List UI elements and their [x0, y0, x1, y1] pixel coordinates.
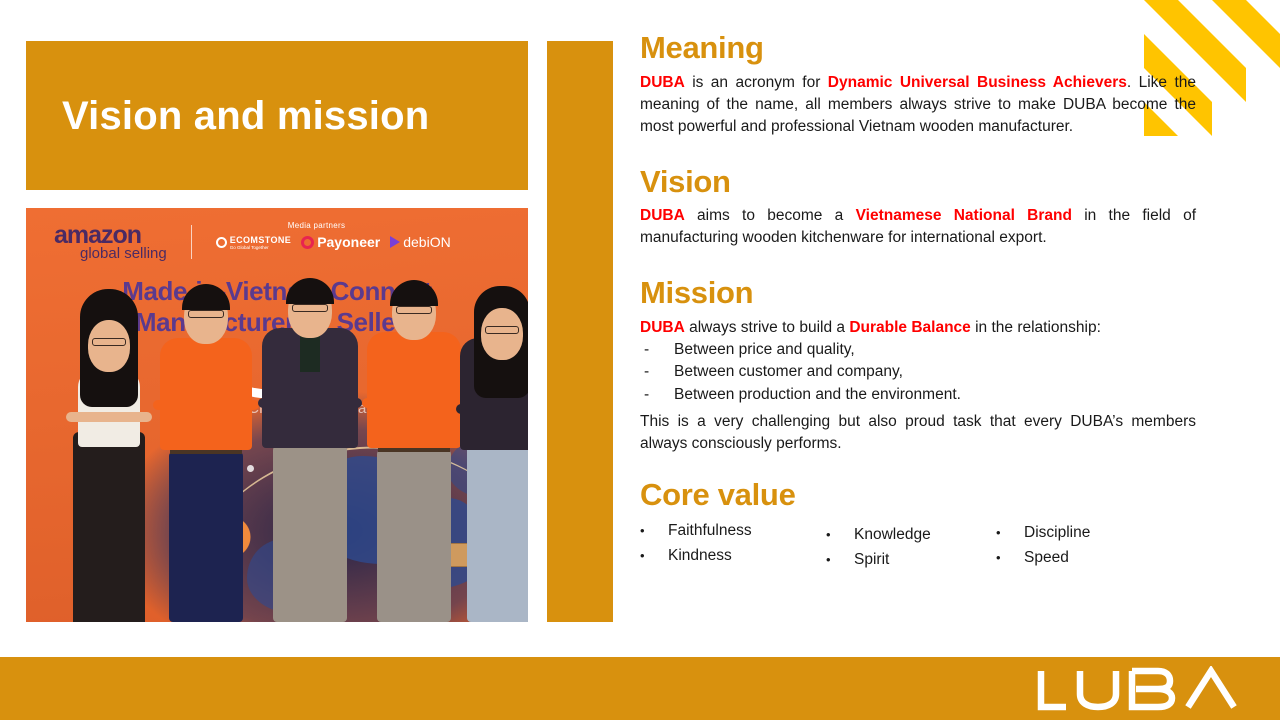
person: [258, 288, 362, 622]
debion-logo: debiON: [390, 234, 450, 250]
list-item: •Spirit: [826, 547, 996, 573]
list-item: -Between price and quality,: [640, 339, 1196, 361]
core-value-column: •Knowledge•Spirit: [826, 518, 996, 573]
slide-title-band: Vision and mission: [26, 41, 528, 190]
list-item-label: Faithfulness: [668, 518, 752, 544]
mission-keyword-balance: Durable Balance: [849, 319, 970, 336]
bullet-marker: •: [826, 525, 854, 546]
vision-paragraph: DUBA aims to become a Vietnamese Nationa…: [640, 205, 1196, 249]
decoration-triangle: [1212, 0, 1246, 34]
list-item: •Speed: [996, 545, 1090, 571]
divider: [191, 225, 192, 259]
list-item: •Kindness: [640, 543, 826, 569]
list-item-label: Discipline: [1024, 520, 1090, 546]
bullet-marker: •: [826, 550, 854, 571]
dash-marker: -: [640, 361, 674, 383]
section-heading-meaning: Meaning: [640, 30, 1196, 67]
decoration-triangle: [1246, 34, 1280, 68]
list-item-label: Spirit: [854, 547, 889, 573]
decoration-triangle: [1178, 0, 1212, 34]
core-value-column: •Faithfulness•Kindness: [640, 518, 826, 573]
mission-text-d: in the relationship:: [971, 319, 1101, 336]
list-item-label: Knowledge: [854, 522, 931, 548]
amazon-global-selling-logo: amazon global selling: [54, 223, 167, 261]
list-item-label: Between customer and company,: [674, 361, 903, 383]
decoration-triangle: [1246, 0, 1280, 34]
media-partners-group: Media partners ECOMSTONE Go Global Toget…: [216, 234, 451, 250]
decoration-triangle: [1144, 0, 1178, 34]
debion-label: debiON: [403, 234, 450, 250]
payoneer-mark-icon: [301, 236, 314, 249]
debion-play-icon: [390, 236, 400, 248]
list-item: •Faithfulness: [640, 518, 826, 544]
duba-logo: DUBA: [1036, 666, 1254, 712]
section-meaning: Meaning DUBA is an acronym for Dynamic U…: [640, 30, 1196, 138]
meaning-keyword-duba: DUBA: [640, 74, 685, 91]
list-item-label: Speed: [1024, 545, 1069, 571]
list-item: -Between production and the environment.: [640, 384, 1196, 406]
section-heading-mission: Mission: [640, 275, 1196, 312]
person: [456, 306, 528, 622]
decoration-triangle: [1212, 68, 1246, 102]
footer-band: DUBA: [0, 657, 1280, 720]
section-core-value: Core value •Faithfulness•Kindness•Knowle…: [640, 477, 1196, 573]
media-partners-label: Media partners: [288, 221, 346, 230]
list-item: •Knowledge: [826, 522, 996, 548]
payoneer-label: Payoneer: [317, 234, 380, 250]
sponsor-logo-strip: amazon global selling Media partners ECO…: [26, 214, 528, 270]
bullet-marker: •: [640, 521, 668, 542]
decoration-triangle: [1212, 34, 1246, 68]
list-item: •Discipline: [996, 520, 1090, 546]
ecomstone-label: ECOMSTONE: [230, 235, 291, 245]
page-title: Vision and mission: [26, 94, 429, 138]
section-mission: Mission DUBA always strive to build a Du…: [640, 275, 1196, 455]
amazon-tagline: global selling: [80, 246, 167, 261]
list-item-label: Between price and quality,: [674, 339, 855, 361]
people-group: [26, 292, 528, 622]
core-value-column: •Discipline•Speed: [996, 518, 1090, 573]
ecomstone-tagline: Go Global Together: [230, 245, 291, 250]
accent-bar: [547, 41, 613, 622]
dash-marker: -: [640, 384, 674, 406]
section-vision: Vision DUBA aims to become a Vietnamese …: [640, 164, 1196, 250]
section-heading-vision: Vision: [640, 164, 1196, 201]
ecomstone-mark-icon: [216, 237, 227, 248]
meaning-keyword-acronym: Dynamic Universal Business Achievers: [828, 74, 1127, 91]
vision-keyword-duba: DUBA: [640, 207, 685, 224]
meaning-paragraph: DUBA is an acronym for Dynamic Universal…: [640, 72, 1196, 138]
mission-closing: This is a very challenging but also prou…: [640, 411, 1196, 455]
person: [66, 322, 152, 622]
mission-intro: DUBA always strive to build a Durable Ba…: [640, 317, 1196, 339]
content-column: Meaning DUBA is an acronym for Dynamic U…: [640, 30, 1196, 573]
bullet-marker: •: [640, 546, 668, 567]
payoneer-logo: Payoneer: [301, 234, 380, 250]
ecomstone-logo: ECOMSTONE Go Global Together: [216, 235, 291, 250]
slide-canvas: Vision and mission amazon global selling…: [0, 0, 1280, 720]
person: [154, 292, 258, 622]
mission-bullet-list: -Between price and quality,-Between cust…: [640, 339, 1196, 406]
mission-text-b: always strive to build a: [685, 319, 850, 336]
section-heading-core-value: Core value: [640, 477, 1196, 514]
mission-keyword-duba: DUBA: [640, 319, 685, 336]
dash-marker: -: [640, 339, 674, 361]
event-photo: amazon global selling Media partners ECO…: [26, 208, 528, 622]
list-item-label: Kindness: [668, 543, 732, 569]
person: [362, 290, 466, 622]
meaning-text-b: is an acronym for: [685, 74, 828, 91]
vision-keyword-brand: Vietnamese National Brand: [856, 207, 1072, 224]
bullet-marker: •: [996, 523, 1024, 544]
bullet-marker: •: [996, 548, 1024, 569]
list-item: -Between customer and company,: [640, 361, 1196, 383]
core-value-columns: •Faithfulness•Kindness•Knowledge•Spirit•…: [640, 518, 1196, 573]
vision-text-b: aims to become a: [685, 207, 856, 224]
list-item-label: Between production and the environment.: [674, 384, 961, 406]
